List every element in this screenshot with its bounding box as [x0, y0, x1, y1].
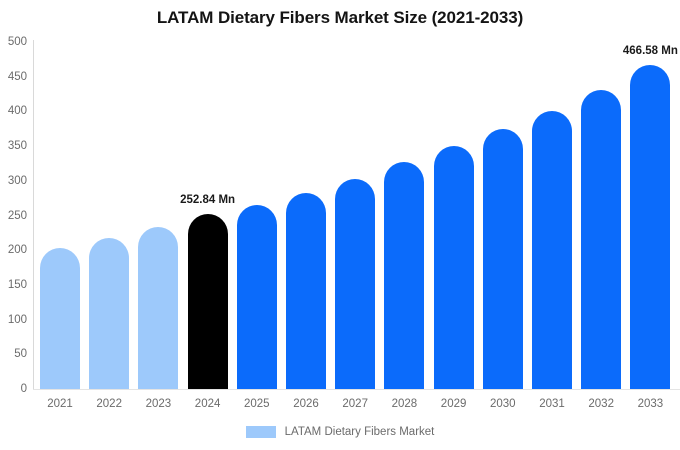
- x-tick-2032: 2032: [581, 398, 621, 410]
- bar-2030[interactable]: [483, 129, 523, 389]
- x-tick-2023: 2023: [138, 398, 178, 410]
- bar-value-label-2024: 252.84 Mn: [163, 194, 253, 206]
- bar-2025[interactable]: [237, 205, 277, 389]
- bar-2032[interactable]: [581, 90, 621, 389]
- legend-item[interactable]: LATAM Dietary Fibers Market: [246, 426, 435, 438]
- x-tick-2031: 2031: [532, 398, 572, 410]
- x-tick-2030: 2030: [483, 398, 523, 410]
- bar-2031[interactable]: [532, 111, 572, 389]
- bar-series: 2021202220232024252.84 Mn202520262027202…: [0, 0, 680, 450]
- x-tick-2033: 2033: [630, 398, 670, 410]
- x-tick-2027: 2027: [335, 398, 375, 410]
- legend-swatch-icon: [246, 426, 276, 438]
- x-tick-2022: 2022: [89, 398, 129, 410]
- bar-value-label-2033: 466.58 Mn: [605, 45, 680, 57]
- bar-2024[interactable]: [188, 214, 228, 389]
- legend-item-label: LATAM Dietary Fibers Market: [285, 426, 435, 438]
- bar-chart: LATAM Dietary Fibers Market Size (2021-2…: [0, 0, 680, 450]
- bar-2021[interactable]: [40, 248, 80, 389]
- x-tick-2021: 2021: [40, 398, 80, 410]
- bar-2033[interactable]: [630, 65, 670, 389]
- x-tick-2024: 2024: [188, 398, 228, 410]
- bar-2022[interactable]: [89, 238, 129, 389]
- bar-2026[interactable]: [286, 193, 326, 389]
- x-tick-2029: 2029: [434, 398, 474, 410]
- bar-2023[interactable]: [138, 227, 178, 389]
- bar-2027[interactable]: [335, 179, 375, 389]
- x-tick-2028: 2028: [384, 398, 424, 410]
- chart-legend: LATAM Dietary Fibers Market: [0, 426, 680, 438]
- bar-2029[interactable]: [434, 146, 474, 389]
- bar-2028[interactable]: [384, 162, 424, 389]
- x-tick-2026: 2026: [286, 398, 326, 410]
- x-tick-2025: 2025: [237, 398, 277, 410]
